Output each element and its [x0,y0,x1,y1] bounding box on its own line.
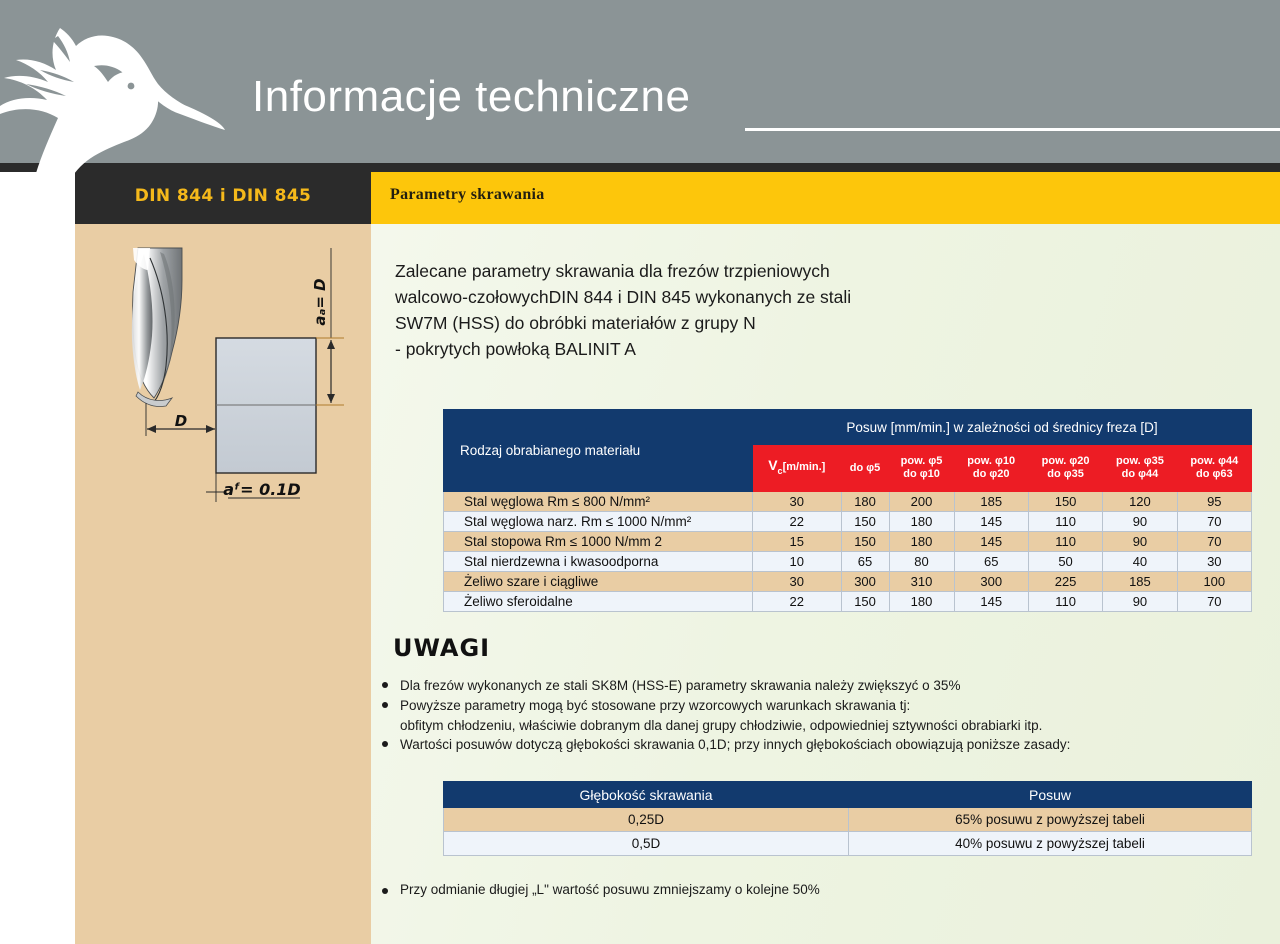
note-item: Powyższe parametry mogą być stosowane pr… [378,696,1258,715]
col-header-d20-35: pow. φ20 do φ35 [1028,445,1102,492]
depth-table-head-row: Głębokość skrawania Posuw [444,782,1252,808]
section-title-band: Parametry skrawania [371,172,1280,224]
col-header-d10-20-l2: do φ20 [973,468,1010,480]
cell-material: Stal stopowa Rm ≤ 1000 N/mm 2 [444,532,753,552]
end-mill-diagram: aₐ= D D aᶠ= 0.1D [120,240,380,510]
cell-d5: 150 [841,532,889,552]
page-title: Informacje techniczne [252,72,691,122]
vc-symbol: Vc [768,457,782,473]
col-header-d20-35-l2: do φ35 [1047,468,1084,480]
col-header-d44-63: pow. φ44 do φ63 [1177,445,1251,492]
cell-d5: 150 [841,512,889,532]
feed-col-header: Posuw [849,782,1252,808]
col-header-vc: Vc[m/min.] [753,445,842,492]
col-header-d44-63-l2: do φ63 [1196,468,1233,480]
col-header-d5-10-l2: do φ10 [903,468,940,480]
cell-d5: 180 [841,492,889,512]
intro-paragraph: Zalecane parametry skrawania dla frezów … [395,258,995,362]
cell-d5-10: 200 [889,492,954,512]
table-row: Stal nierdzewna i kwasoodporna 10 65 80 … [444,552,1252,572]
table-body: Stal węglowa Rm ≤ 800 N/mm² 30 180 200 1… [444,492,1252,612]
cell-d10-20: 145 [954,532,1028,552]
depth-table-head: Głębokość skrawania Posuw [444,782,1252,808]
cell-d5: 65 [841,552,889,572]
cutting-parameters-table: Rodzaj obrabianego materiału Posuw [mm/m… [443,409,1252,612]
depth-col-header: Głębokość skrawania [444,782,849,808]
cell-d20-35: 110 [1028,532,1102,552]
cell-d44-63: 70 [1177,532,1251,552]
bullet-icon [382,682,388,688]
cell-vc: 22 [753,592,842,612]
cell-d10-20: 145 [954,512,1028,532]
cell-material: Stal węglowa Rm ≤ 800 N/mm² [444,492,753,512]
bullet-icon [382,888,388,894]
cell-d35-44: 40 [1103,552,1177,572]
cell-d10-20: 185 [954,492,1028,512]
col-header-d35-44-l1: pow. φ35 [1116,455,1164,467]
cell-d5-10: 80 [889,552,954,572]
cell-d5: 150 [841,592,889,612]
col-header-material: Rodzaj obrabianego materiału [444,410,753,492]
notes-heading: UWAGI [393,634,490,662]
cell-material: Stal węglowa narz. Rm ≤ 1000 N/mm² [444,512,753,532]
intro-line-3: SW7M (HSS) do obróbki materiałów z grupy… [395,310,995,336]
cell-d20-35: 50 [1028,552,1102,572]
cell-d5: 300 [841,572,889,592]
note-item: Dla frezów wykonanych ze stali SK8M (HSS… [378,676,1258,695]
col-header-d5-10: pow. φ5 do φ10 [889,445,954,492]
cell-depth: 0,5D [444,832,849,856]
cell-d44-63: 70 [1177,512,1251,532]
cell-d35-44: 90 [1103,532,1177,552]
cell-vc: 22 [753,512,842,532]
cell-vc: 10 [753,552,842,572]
cell-d35-44: 185 [1103,572,1177,592]
cell-material: Żeliwo sferoidalne [444,592,753,612]
col-header-d44-63-l1: pow. φ44 [1190,455,1238,467]
col-header-d35-44-l2: do φ44 [1122,468,1159,480]
cell-feed: 40% posuwu z powyższej tabeli [849,832,1252,856]
col-header-d10-20: pow. φ10 do φ20 [954,445,1028,492]
table-row: Żeliwo szare i ciągliwe 30 300 310 300 2… [444,572,1252,592]
cell-d44-63: 95 [1177,492,1251,512]
bullet-icon [382,702,388,708]
section-title-label: Parametry skrawania [390,186,545,204]
table-head-row-1: Rodzaj obrabianego materiału Posuw [mm/m… [444,410,1252,445]
cell-d5-10: 180 [889,532,954,552]
col-header-feed-group: Posuw [mm/min.] w zależności od średnicy… [753,410,1252,445]
intro-line-2: walcowo-czołowychDIN 844 i DIN 845 wykon… [395,284,995,310]
col-header-d5-l1: do φ5 [850,462,880,474]
hummingbird-logo [0,18,225,233]
cell-d20-35: 110 [1028,512,1102,532]
note-subtext: obfitym chłodzeniu, właściwie dobranym d… [378,716,1258,735]
col-header-d5: do φ5 [841,445,889,492]
cell-vc: 15 [753,532,842,552]
cell-d5-10: 180 [889,592,954,612]
left-white-margin [0,224,75,944]
cell-d35-44: 90 [1103,592,1177,612]
cell-d10-20: 300 [954,572,1028,592]
note-item: Wartości posuwów dotyczą głębokości skra… [378,735,1258,754]
notes-list: Dla frezów wykonanych ze stali SK8M (HSS… [378,676,1258,755]
depth-table-body: 0,25D 65% posuwu z powyższej tabeli 0,5D… [444,808,1252,856]
vc-unit: [m/min.] [783,461,826,473]
table-row: 0,5D 40% posuwu z powyższej tabeli [444,832,1252,856]
cell-d35-44: 120 [1103,492,1177,512]
cell-d10-20: 145 [954,592,1028,612]
table-head: Rodzaj obrabianego materiału Posuw [mm/m… [444,410,1252,492]
cell-d20-35: 110 [1028,592,1102,612]
cell-d5-10: 180 [889,512,954,532]
cell-d35-44: 90 [1103,512,1177,532]
notes-list-footer: Przy odmianie długiej „L" wartość posuwu… [378,882,1258,898]
table-row: Żeliwo sferoidalne 22 150 180 145 110 90… [444,592,1252,612]
note-text: Dla frezów wykonanych ze stali SK8M (HSS… [400,678,960,693]
cell-d44-63: 30 [1177,552,1251,572]
note-text: Powyższe parametry mogą być stosowane pr… [400,698,910,713]
bullet-icon [382,741,388,747]
cell-d20-35: 150 [1028,492,1102,512]
table-row: Stal stopowa Rm ≤ 1000 N/mm 2 15 150 180… [444,532,1252,552]
cell-vc: 30 [753,492,842,512]
cell-d44-63: 70 [1177,592,1251,612]
note-text: Wartości posuwów dotyczą głębokości skra… [400,737,1070,752]
cell-depth: 0,25D [444,808,849,832]
table-row: Stal węglowa Rm ≤ 800 N/mm² 30 180 200 1… [444,492,1252,512]
note-item: Przy odmianie długiej „L" wartość posuwu… [378,882,1258,897]
cell-d44-63: 100 [1177,572,1251,592]
cell-d10-20: 65 [954,552,1028,572]
col-header-d5-10-l1: pow. φ5 [901,455,943,467]
col-header-d35-44: pow. φ35 do φ44 [1103,445,1177,492]
cell-material: Stal nierdzewna i kwasoodporna [444,552,753,572]
title-underline-rule [745,128,1280,131]
cell-d20-35: 225 [1028,572,1102,592]
cell-feed: 65% posuwu z powyższej tabeli [849,808,1252,832]
drawing-label-diameter: D [175,412,187,430]
cell-vc: 30 [753,572,842,592]
cell-d5-10: 310 [889,572,954,592]
table-row: 0,25D 65% posuwu z powyższej tabeli [444,808,1252,832]
intro-line-1: Zalecane parametry skrawania dla frezów … [395,258,995,284]
drawing-label-radial: aᶠ= 0.1D [223,480,300,499]
depth-feed-table: Głębokość skrawania Posuw 0,25D 65% posu… [443,781,1252,856]
drawing-label-axial: aₐ= D [311,278,329,325]
col-header-d10-20-l1: pow. φ10 [967,455,1015,467]
cell-material: Żeliwo szare i ciągliwe [444,572,753,592]
intro-line-4: - pokrytych powłoką BALINIT A [395,336,995,362]
table-row: Stal węglowa narz. Rm ≤ 1000 N/mm² 22 15… [444,512,1252,532]
col-header-d20-35-l1: pow. φ20 [1042,455,1090,467]
note-text: Przy odmianie długiej „L" wartość posuwu… [400,882,820,897]
